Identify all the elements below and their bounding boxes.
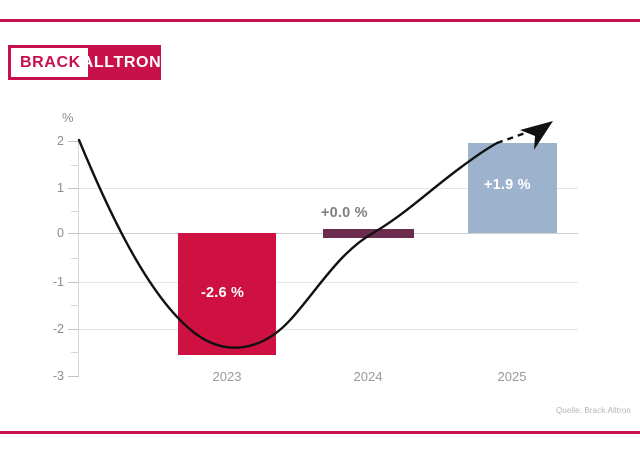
y-minor-tick-1-5 <box>71 165 79 166</box>
y-minor-tick-minus2-5 <box>71 352 79 353</box>
x-label-2023: 2023 <box>182 369 272 384</box>
y-label-2: 2 <box>40 134 64 148</box>
y-label-minus1: -1 <box>40 275 64 289</box>
x-label-2025: 2025 <box>467 369 557 384</box>
y-minor-tick-0-5 <box>71 211 79 212</box>
bar-2024 <box>323 229 414 238</box>
y-label-minus2: -2 <box>40 322 64 336</box>
y-tick-1 <box>68 188 79 189</box>
y-tick-minus2 <box>68 329 79 330</box>
y-label-0: 0 <box>40 226 64 240</box>
trend-curve-path <box>79 140 497 348</box>
gridline-minus1-5 <box>78 329 578 330</box>
forecast-dashed-path <box>497 131 531 143</box>
y-tick-0 <box>68 233 79 234</box>
source-attribution: Quelle: Brack.Alltron <box>556 406 631 415</box>
y-tick-2 <box>68 141 79 142</box>
y-axis-unit-label: % <box>62 110 74 125</box>
y-minor-tick-minus0-5 <box>71 258 79 259</box>
y-tick-minus3 <box>68 376 79 377</box>
bar-label-2025: +1.9 % <box>484 177 531 193</box>
gridline-minus1 <box>78 282 578 283</box>
y-label-1: 1 <box>40 181 64 195</box>
bar-label-2023: -2.6 % <box>201 285 244 301</box>
y-minor-tick-minus1-5 <box>71 305 79 306</box>
y-tick-minus1 <box>68 282 79 283</box>
chart-area: % 2 1 0 -1 -2 -3 -2.6 % +0.0 % +1.9 % 20… <box>0 0 640 455</box>
x-label-2024: 2024 <box>323 369 413 384</box>
bar-label-2024: +0.0 % <box>321 205 368 221</box>
y-label-minus3: -3 <box>40 369 64 383</box>
